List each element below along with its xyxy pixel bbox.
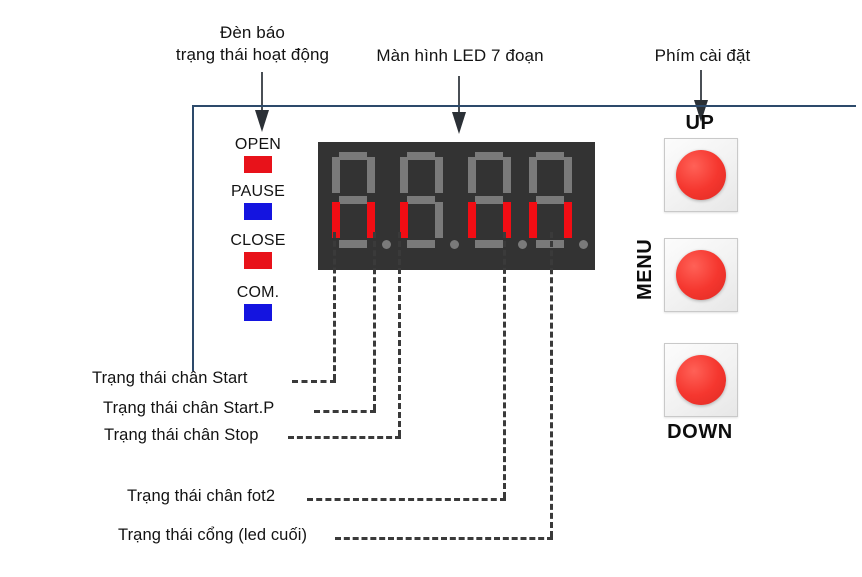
- led-label-com: COM.: [218, 284, 298, 302]
- segment-g: [407, 196, 435, 204]
- segment-b: [503, 157, 511, 193]
- key-label-menu: MENU: [634, 239, 657, 300]
- segment-f: [529, 157, 537, 193]
- leader-line-fot2-vertical: [503, 232, 506, 498]
- callout-setting-keys: Phím cài đặt: [620, 45, 785, 67]
- key-label-down: DOWN: [650, 421, 750, 444]
- callout-status-lamp: Đèn báo trạng thái hoạt động: [150, 22, 355, 67]
- leader-line-start-vertical: [333, 232, 336, 380]
- segment-g: [536, 196, 564, 204]
- segment-a: [339, 152, 367, 160]
- segment-g: [339, 196, 367, 204]
- segment-c: [564, 202, 572, 238]
- led-label-open: OPEN: [218, 136, 298, 154]
- note-gate-status: Trạng thái cổng (led cuối): [118, 526, 307, 545]
- down-button-cap: [676, 355, 726, 405]
- segment-a: [536, 152, 564, 160]
- leader-line-start-horizontal: [292, 380, 336, 383]
- segment-g: [475, 196, 503, 204]
- segment-d: [407, 240, 435, 248]
- segment-b: [435, 157, 443, 193]
- leader-line-stop-vertical: [398, 232, 401, 436]
- led-7segment-display: [318, 142, 595, 270]
- leader-line-gate-horizontal: [335, 537, 553, 540]
- led-indicator-com: [244, 304, 272, 321]
- up-button[interactable]: [664, 138, 738, 212]
- segment-e: [529, 202, 537, 238]
- segment-a: [407, 152, 435, 160]
- segment-f: [468, 157, 476, 193]
- segment-b: [367, 157, 375, 193]
- segment-f: [400, 157, 408, 193]
- led-indicator-pause: [244, 203, 272, 220]
- leader-line-gate-vertical: [550, 232, 553, 537]
- note-pin-fot2: Trạng thái chân fot2: [127, 487, 275, 506]
- display-digit-2: [396, 152, 448, 252]
- display-digit-3: [464, 152, 516, 252]
- menu-button-cap: [676, 250, 726, 300]
- led-indicator-open: [244, 156, 272, 173]
- up-button-cap: [676, 150, 726, 200]
- key-label-up: UP: [660, 112, 740, 135]
- note-pin-start: Trạng thái chân Start: [92, 369, 248, 388]
- segment-e: [400, 202, 408, 238]
- note-pin-startp: Trạng thái chân Start.P: [103, 399, 274, 418]
- segment-c: [435, 202, 443, 238]
- segment-e: [468, 202, 476, 238]
- decimal-point: [579, 240, 588, 249]
- segment-d: [339, 240, 367, 248]
- leader-line-startp-horizontal: [314, 410, 376, 413]
- leader-line-startp-vertical: [373, 232, 376, 410]
- down-button[interactable]: [664, 343, 738, 417]
- diagram-canvas: Đèn báo trạng thái hoạt động Màn hình LE…: [0, 0, 862, 577]
- segment-d: [475, 240, 503, 248]
- led-label-pause: PAUSE: [218, 183, 298, 201]
- leader-line-fot2-horizontal: [307, 498, 506, 501]
- decimal-point: [450, 240, 459, 249]
- frame-left-border: [192, 105, 194, 371]
- segment-f: [332, 157, 340, 193]
- led-indicator-close: [244, 252, 272, 269]
- note-pin-stop: Trạng thái chân Stop: [104, 426, 259, 445]
- callout-led-display: Màn hình LED 7 đoạn: [360, 45, 560, 67]
- leader-line-stop-horizontal: [288, 436, 401, 439]
- arrow-status-lamp: [255, 72, 269, 132]
- segment-a: [475, 152, 503, 160]
- frame-top-border: [192, 105, 856, 107]
- segment-b: [564, 157, 572, 193]
- decimal-point: [382, 240, 391, 249]
- led-label-close: CLOSE: [218, 232, 298, 250]
- menu-button[interactable]: [664, 238, 738, 312]
